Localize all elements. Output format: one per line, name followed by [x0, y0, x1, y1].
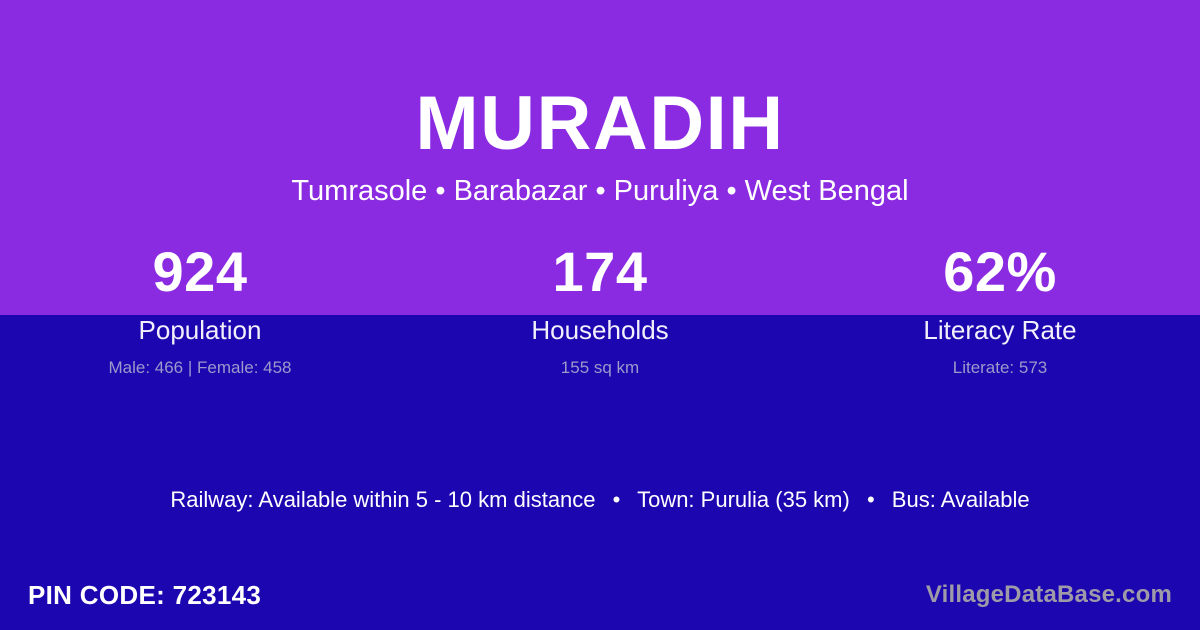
- stat-detail: 155 sq km: [400, 346, 800, 379]
- page-title: MURADIH: [0, 0, 1200, 166]
- stat-value: 174: [400, 240, 800, 310]
- hero-content: MURADIH Tumrasole • Barabazar • Puruliya…: [0, 0, 1200, 209]
- infrastructure-line: Railway: Available within 5 - 10 km dist…: [0, 485, 1200, 515]
- stat-detail: Male: 466 | Female: 458: [0, 346, 400, 379]
- stat-value: 924: [0, 240, 400, 310]
- stats-row: 924 Population Male: 466 | Female: 458 1…: [0, 240, 1200, 379]
- stat-households: 174 Households 155 sq km: [400, 240, 800, 379]
- stat-value: 62%: [800, 240, 1200, 310]
- stat-label: Literacy Rate: [800, 310, 1200, 346]
- brand-watermark: VillageDataBase.com: [926, 580, 1172, 610]
- stat-literacy-rate: 62% Literacy Rate Literate: 573: [800, 240, 1200, 379]
- bullet-separator-icon: •: [856, 487, 886, 512]
- stat-label: Population: [0, 310, 400, 346]
- village-info-card: MURADIH Tumrasole • Barabazar • Puruliya…: [0, 0, 1200, 630]
- infra-railway: Railway: Available within 5 - 10 km dist…: [170, 487, 595, 512]
- infra-bus: Bus: Available: [892, 487, 1030, 512]
- stat-label: Households: [400, 310, 800, 346]
- infra-town: Town: Purulia (35 km): [637, 487, 850, 512]
- footer: PIN CODE: 723143 VillageDataBase.com: [0, 560, 1200, 630]
- breadcrumb: Tumrasole • Barabazar • Puruliya • West …: [0, 166, 1200, 209]
- pin-code: PIN CODE: 723143: [28, 579, 261, 611]
- stat-population: 924 Population Male: 466 | Female: 458: [0, 240, 400, 379]
- stat-detail: Literate: 573: [800, 346, 1200, 379]
- bullet-separator-icon: •: [602, 487, 632, 512]
